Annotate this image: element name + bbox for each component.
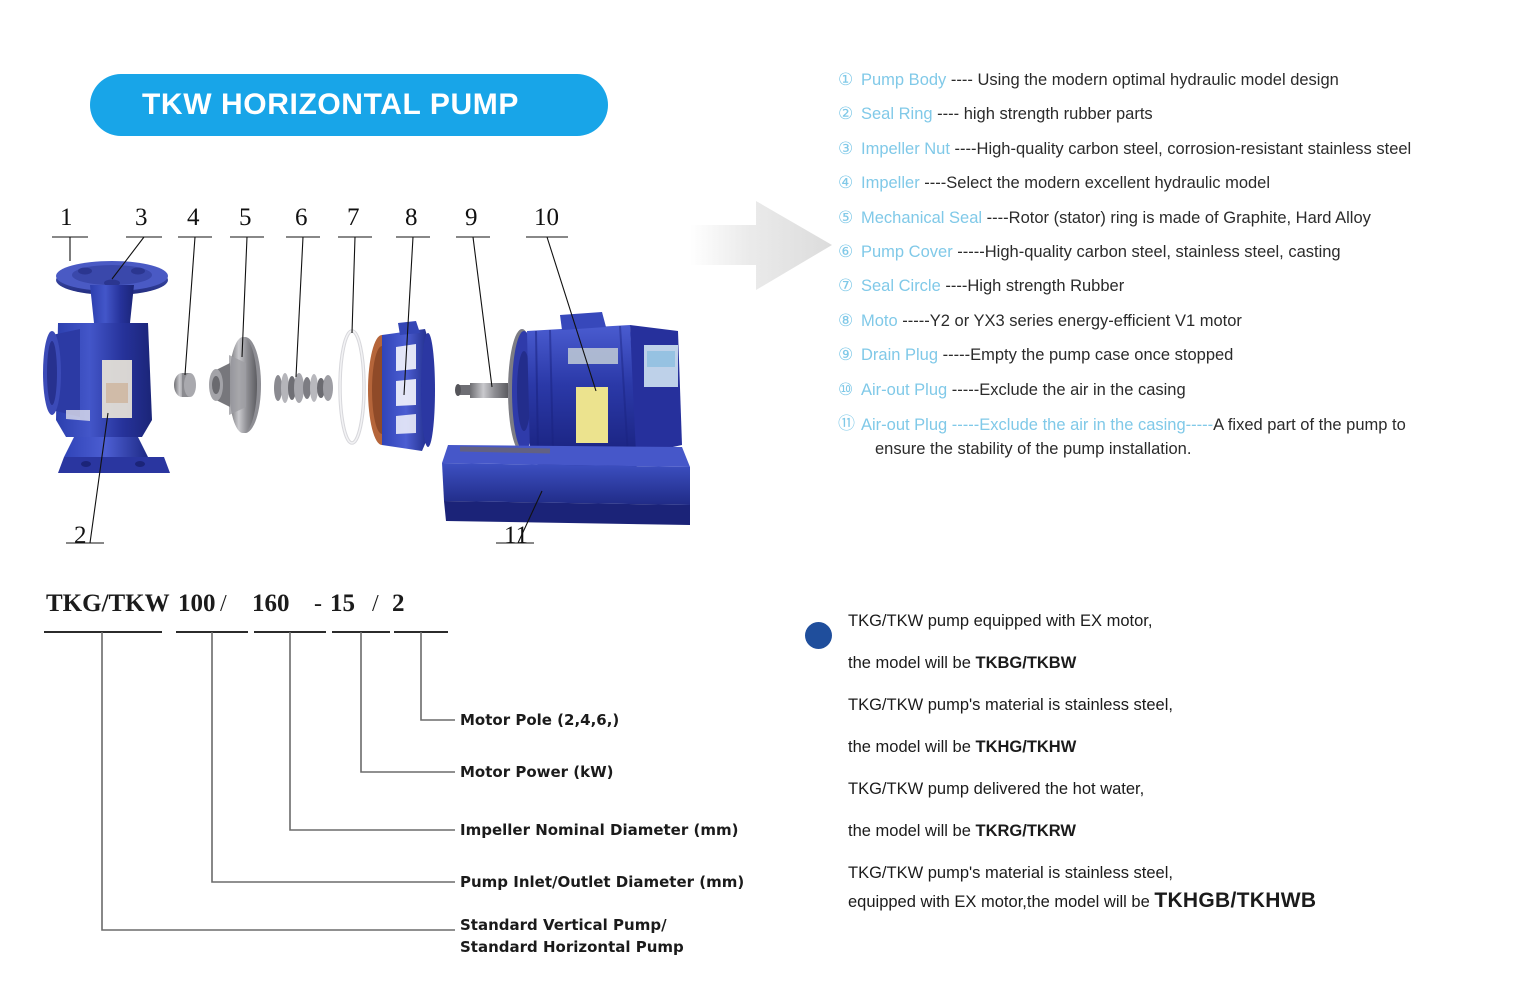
legend-item-11-sep2: ----- <box>1186 416 1213 434</box>
note-line-7-text: TKG/TKW pump's material is stainless ste… <box>848 864 1173 882</box>
legend-item-8-text: Moto -----Y2 or YX3 series energy-effici… <box>861 311 1508 332</box>
legend-item-6-text: Pump Cover -----High-quality carbon stee… <box>861 242 1508 263</box>
note-line-4: the model will be TKHG/TKHW <box>848 738 1405 757</box>
title-banner: TKW HORIZONTAL PUMP <box>90 74 608 136</box>
legend-item-11-desc-line2: ensure the stability of the pump install… <box>861 438 1508 462</box>
callout-10: 10 <box>534 205 559 230</box>
circled-number-9-icon: ⑨ <box>838 345 861 366</box>
callout-11: 11 <box>504 523 528 548</box>
callout-5: 5 <box>239 205 252 230</box>
circled-number-3-icon: ③ <box>838 139 861 160</box>
legend-item-9-desc: Empty the pump case once stopped <box>970 346 1233 364</box>
note-line-4-model: TKHG/TKHW <box>975 738 1076 756</box>
legend-item-11-text: Air-out Plug -----Exclude the air in the… <box>861 414 1508 462</box>
pump-illustration-svg <box>30 205 690 570</box>
legend-item-4-sep: ---- <box>920 174 947 192</box>
leader-label-pump-type: Standard Vertical Pump/ Standard Horizon… <box>460 915 684 959</box>
note-line-3: TKG/TKW pump's material is stainless ste… <box>848 696 1405 715</box>
note-line-1-text: TKG/TKW pump equipped with EX motor, <box>848 612 1152 630</box>
legend-item-4: ④ Impeller ----Select the modern excelle… <box>838 173 1508 194</box>
note-line-6-text: the model will be <box>848 822 975 840</box>
note-line-8-model: TKHGB/TKHWB <box>1154 889 1316 912</box>
callout-1: 1 <box>60 205 73 230</box>
leader-label-motor-power: Motor Power (kW) <box>460 763 614 781</box>
legend-item-11: ⑪ Air-out Plug -----Exclude the air in t… <box>838 414 1508 462</box>
legend-item-3-text: Impeller Nut ----High-quality carbon ste… <box>861 139 1508 160</box>
legend-item-4-label: Impeller <box>861 174 920 192</box>
legend-item-7-sep: ---- <box>941 277 968 295</box>
leader-label-impeller-diameter: Impeller Nominal Diameter (mm) <box>460 821 738 839</box>
legend-item-5: ⑤ Mechanical Seal ----Rotor (stator) rin… <box>838 208 1508 229</box>
legend-item-5-text: Mechanical Seal ----Rotor (stator) ring … <box>861 208 1508 229</box>
legend-item-6-desc: High-quality carbon steel, stainless ste… <box>985 243 1341 261</box>
legend-item-9-sep: ----- <box>938 346 970 364</box>
legend-item-10-sep: ----- <box>947 381 979 399</box>
legend-item-2-text: Seal Ring ---- high strength rubber part… <box>861 104 1508 125</box>
legend-item-7-label: Seal Circle <box>861 277 941 295</box>
circled-number-10-icon: ⑩ <box>838 380 861 401</box>
legend-item-2-label: Seal Ring <box>861 105 933 123</box>
legend-item-10-label: Air-out Plug <box>861 381 947 399</box>
legend-item-1-text: Pump Body ---- Using the modern optimal … <box>861 70 1508 91</box>
circled-number-2-icon: ② <box>838 104 861 125</box>
model-code-leader-lines <box>30 590 730 970</box>
legend-item-8-desc: Y2 or YX3 series energy-efficient V1 mot… <box>930 312 1242 330</box>
note-line-7: TKG/TKW pump's material is stainless ste… <box>848 864 1405 883</box>
legend-item-10-text: Air-out Plug -----Exclude the air in the… <box>861 380 1508 401</box>
legend-item-6-label: Pump Cover <box>861 243 953 261</box>
legend-item-3-sep: ---- <box>950 140 977 158</box>
legend-item-11-sep: ----- <box>947 416 979 434</box>
circled-number-7-icon: ⑦ <box>838 276 861 297</box>
legend-item-2: ② Seal Ring ---- high strength rubber pa… <box>838 104 1508 125</box>
model-code-diagram: TKG/TKW 100 160 15 2 / - / <box>30 590 730 970</box>
legend-item-5-desc: Rotor (stator) ring is made of Graphite,… <box>1009 209 1371 227</box>
legend-item-1-sep: ---- <box>946 71 977 89</box>
callout-4: 4 <box>187 205 200 230</box>
legend-item-2-desc: high strength rubber parts <box>964 105 1153 123</box>
note-line-2: the model will be TKBG/TKBW <box>848 654 1405 673</box>
legend-item-9-text: Drain Plug -----Empty the pump case once… <box>861 345 1508 366</box>
circled-number-5-icon: ⑤ <box>838 208 861 229</box>
leader-label-motor-pole: Motor Pole (2,4,6,) <box>460 711 619 729</box>
legend-item-5-label: Mechanical Seal <box>861 209 982 227</box>
legend-item-4-desc: Select the modern excellent hydraulic mo… <box>946 174 1270 192</box>
legend-item-3-label: Impeller Nut <box>861 140 950 158</box>
leader-label-pump-type-line1: Standard Vertical Pump/ <box>460 915 684 937</box>
legend-item-1: ① Pump Body ---- Using the modern optima… <box>838 70 1508 91</box>
note-line-5: TKG/TKW pump delivered the hot water, <box>848 780 1405 799</box>
legend-item-1-label: Pump Body <box>861 71 946 89</box>
note-line-5-text: TKG/TKW pump delivered the hot water, <box>848 780 1144 798</box>
leader-label-pump-type-line2: Standard Horizontal Pump <box>460 937 684 959</box>
callout-8: 8 <box>405 205 418 230</box>
legend-item-3: ③ Impeller Nut ----High-quality carbon s… <box>838 139 1508 160</box>
legend-item-10-desc: Exclude the air in the casing <box>979 381 1185 399</box>
legend-item-5-sep: ---- <box>982 209 1009 227</box>
legend-item-8-sep: ----- <box>898 312 930 330</box>
legend-item-9-label: Drain Plug <box>861 346 938 364</box>
legend-item-3-desc: High-quality carbon steel, corrosion-res… <box>977 140 1412 158</box>
note-line-6-model: TKRG/TKRW <box>975 822 1076 840</box>
note-line-8-text: equipped with EX motor,the model will be <box>848 893 1154 911</box>
pump-spec-sheet: TKW HORIZONTAL PUMP <box>0 0 1513 1000</box>
legend-item-6-sep: ----- <box>953 243 985 261</box>
callout-7: 7 <box>347 205 360 230</box>
note-line-1: TKG/TKW pump equipped with EX motor, <box>848 612 1405 631</box>
legend-item-7-desc: High strength Rubber <box>967 277 1124 295</box>
legend-item-2-sep: ---- <box>933 105 964 123</box>
legend-item-1-desc: Using the modern optimal hydraulic model… <box>977 71 1338 89</box>
note-line-4-text: the model will be <box>848 738 975 756</box>
bullet-point-icon <box>805 622 832 649</box>
note-line-2-model: TKBG/TKBW <box>975 654 1076 672</box>
callout-6: 6 <box>295 205 308 230</box>
circled-number-1-icon: ① <box>838 70 861 91</box>
right-arrow-icon <box>690 193 835 298</box>
circled-number-8-icon: ⑧ <box>838 311 861 332</box>
circled-number-6-icon: ⑥ <box>838 242 861 263</box>
callout-2: 2 <box>74 523 87 548</box>
legend-item-4-text: Impeller ----Select the modern excellent… <box>861 173 1508 194</box>
note-line-6: the model will be TKRG/TKRW <box>848 822 1405 841</box>
legend-item-7: ⑦ Seal Circle ----High strength Rubber <box>838 276 1508 297</box>
legend-item-11-desc-dark: A fixed part of the pump to <box>1213 416 1406 434</box>
legend-item-9: ⑨ Drain Plug -----Empty the pump case on… <box>838 345 1508 366</box>
legend-item-6: ⑥ Pump Cover -----High-quality carbon st… <box>838 242 1508 263</box>
note-line-3-text: TKG/TKW pump's material is stainless ste… <box>848 696 1173 714</box>
parts-legend: ① Pump Body ---- Using the modern optima… <box>838 70 1508 475</box>
exploded-pump-diagram: 1 3 4 5 6 7 8 9 10 2 11 <box>30 205 690 570</box>
legend-item-7-text: Seal Circle ----High strength Rubber <box>861 276 1508 297</box>
circled-number-4-icon: ④ <box>838 173 861 194</box>
notes-lines: TKG/TKW pump equipped with EX motor, the… <box>805 612 1405 913</box>
leader-label-inlet-diameter: Pump Inlet/Outlet Diameter (mm) <box>460 873 744 891</box>
legend-item-11-label: Air-out Plug <box>861 416 947 434</box>
callout-3: 3 <box>135 205 148 230</box>
legend-item-8: ⑧ Moto -----Y2 or YX3 series energy-effi… <box>838 311 1508 332</box>
page-title: TKW HORIZONTAL PUMP <box>90 88 519 122</box>
legend-item-11-desc-blue: Exclude the air in the casing <box>979 416 1185 434</box>
model-variants-notes: TKG/TKW pump equipped with EX motor, the… <box>805 612 1405 936</box>
callout-9: 9 <box>465 205 478 230</box>
legend-item-10: ⑩ Air-out Plug -----Exclude the air in t… <box>838 380 1508 401</box>
circled-number-11-icon: ⑪ <box>838 414 861 435</box>
legend-item-8-label: Moto <box>861 312 898 330</box>
note-line-8: equipped with EX motor,the model will be… <box>848 889 1405 913</box>
note-line-2-text: the model will be <box>848 654 975 672</box>
